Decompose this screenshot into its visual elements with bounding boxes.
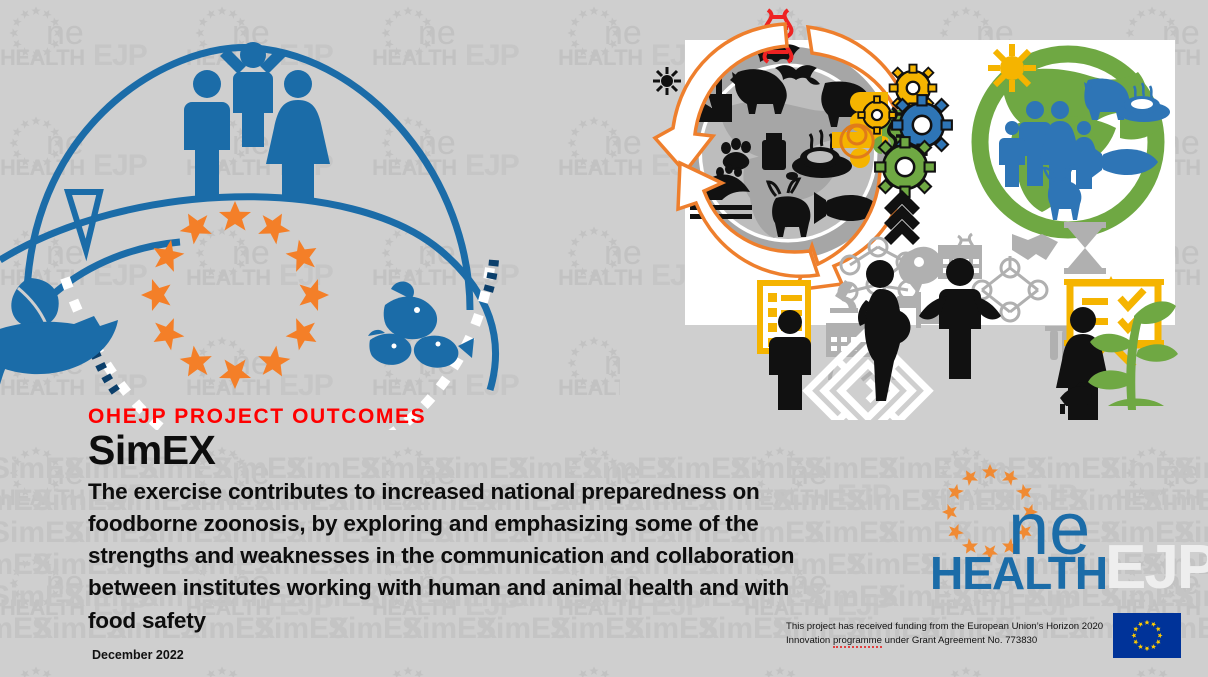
funding-line-2: Innovation programme under Grant Agreeme… xyxy=(786,634,1106,648)
watermark-star-ring-icon xyxy=(564,334,624,392)
watermark-star-ring-icon xyxy=(6,664,66,677)
simex-watermark-word: SimEX xyxy=(846,548,920,582)
simex-watermark-word: SimEX xyxy=(0,548,32,582)
watermark-health: HEALTH xyxy=(0,487,85,509)
watermark-health: HEALTH xyxy=(0,597,85,619)
simex-watermark-word: SimEX xyxy=(0,580,64,614)
sun-icon-yellow xyxy=(988,44,1036,92)
watermark-star-ring-icon xyxy=(750,664,810,677)
watermark-ne: ne xyxy=(46,456,84,490)
slide-root: EJPneHEALTHEJPneHEALTHEJPneHEALTHEJPneHE… xyxy=(0,0,1208,677)
watermark-star-ring-icon xyxy=(192,664,252,677)
funding-line-2-pre: Innovation xyxy=(786,635,833,646)
sun-icon-small xyxy=(653,67,681,95)
watermark-star-ring-icon xyxy=(936,664,996,677)
watermark-logo-tile: EJPneHEALTH xyxy=(186,660,372,677)
body-paragraph: The exercise contributes to increased na… xyxy=(88,476,828,637)
funding-line-2-post: under Grant Agreement No. 773830 xyxy=(882,635,1037,646)
simex-watermark-word: SimEX xyxy=(846,484,920,518)
watermark-star-ring-icon xyxy=(378,664,438,677)
watermark-star-ring-icon xyxy=(1122,664,1182,677)
watermark-logo-tile: EJPneHEALTH xyxy=(930,660,1116,677)
simex-watermark-word: SimEX xyxy=(0,452,64,486)
watermark-star-ring-icon xyxy=(6,554,66,612)
funding-statement: This project has received funding from t… xyxy=(786,620,1106,648)
simex-watermark-word: SimEX xyxy=(0,516,64,550)
watermark-star-ring-icon xyxy=(564,664,624,677)
onehealth-ejp-logo: EJP ne HEALTH xyxy=(930,462,1182,592)
watermark-logo-tile: EJPneHEALTH xyxy=(0,660,186,677)
watermark-star-ring-icon xyxy=(564,114,624,172)
logo-ejp-text: EJP xyxy=(1105,537,1208,599)
logo-health-text: HEALTH xyxy=(930,550,1107,596)
watermark-logo-tile: EJPneHEALTH xyxy=(558,660,744,677)
funding-line-2-mark: programme xyxy=(833,635,882,648)
watermark-star-ring-icon xyxy=(6,444,66,502)
date-stamp: December 2022 xyxy=(92,648,184,662)
page-title: SimEX xyxy=(88,430,848,472)
simex-watermark-word: SimEX xyxy=(0,484,32,518)
text-block: OHEJP PROJECT OUTCOMES SimEX The exercis… xyxy=(88,405,848,637)
aquaculture-icons xyxy=(368,282,474,368)
simex-watermark-word: SimEX xyxy=(0,612,32,645)
eu-flag-icon xyxy=(1113,613,1181,658)
eu-stars-circle xyxy=(141,201,329,389)
watermark-star-ring-icon xyxy=(564,4,624,62)
right-illustration xyxy=(620,0,1208,420)
watermark-ne: ne xyxy=(46,566,84,600)
watermark-logo-tile: EJPneHEALTH xyxy=(744,660,930,677)
watermark-logo-tile: EJPneHEALTH xyxy=(372,660,558,677)
left-illustration xyxy=(0,10,530,430)
people-group-icon xyxy=(184,42,330,200)
watermark-logo-tile: EJPneHEALTH xyxy=(1116,660,1208,677)
funding-line-1: This project has received funding from t… xyxy=(786,620,1106,634)
kicker-label: OHEJP PROJECT OUTCOMES xyxy=(88,405,848,428)
watermark-star-ring-icon xyxy=(564,224,624,282)
watermark-health: HEALTH xyxy=(930,597,1015,619)
